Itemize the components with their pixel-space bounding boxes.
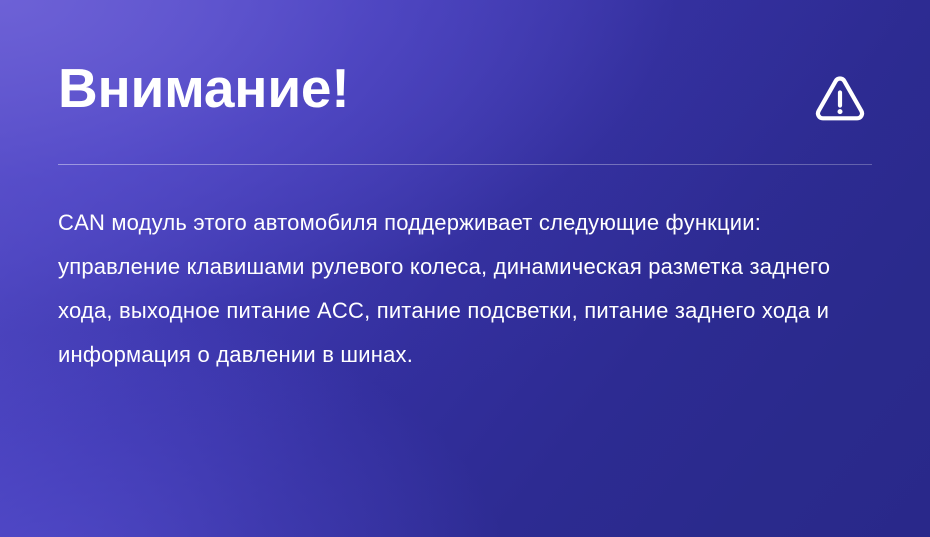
warning-triangle-icon bbox=[812, 70, 868, 126]
banner-header: Внимание! bbox=[58, 0, 872, 126]
body-paragraph-functions: управление клавишами рулевого колеса, ди… bbox=[58, 245, 872, 377]
header-divider bbox=[58, 164, 872, 165]
body-paragraph-intro: CAN модуль этого автомобиля поддерживает… bbox=[58, 201, 872, 245]
page-title: Внимание! bbox=[58, 58, 349, 118]
attention-notice-banner: Внимание! CAN модуль этого автомобиля по… bbox=[0, 0, 930, 537]
banner-content: Внимание! CAN модуль этого автомобиля по… bbox=[0, 0, 930, 377]
banner-body: CAN модуль этого автомобиля поддерживает… bbox=[58, 201, 872, 377]
